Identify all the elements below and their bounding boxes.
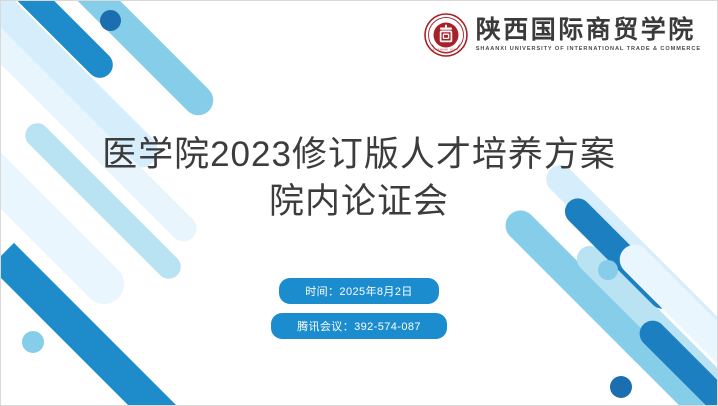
title-line-2: 院内论证会 <box>1 178 717 225</box>
university-name-cn: 陕西国际商贸学院 <box>476 18 701 43</box>
badge-datetime: 时间：2025年8月2日 <box>279 278 439 304</box>
title-line-1: 医学院2023修订版人才培养方案 <box>1 131 717 178</box>
badge-meeting-id: 腾讯会议：392-574-087 <box>271 313 447 339</box>
deco-dot-dark-bottomright <box>610 376 632 398</box>
deco-dot-light-right <box>598 260 618 280</box>
deco-bar-accent-left-1 <box>1 1 118 83</box>
slide-title: 医学院2023修订版人才培养方案 院内论证会 <box>1 131 717 225</box>
university-name-en: SHAANXI UNIVERSITY OF INTERNATIONAL TRAD… <box>476 47 701 53</box>
deco-bar-light-left-2 <box>29 1 220 121</box>
university-logo: SHAANXI UNIV. 陕西国际商贸学院 SHAANXI UNIVERSIT… <box>424 13 701 57</box>
deco-dot-dark-topleft <box>100 10 121 31</box>
university-name-block: 陕西国际商贸学院 SHAANXI UNIVERSITY OF INTERNATI… <box>476 18 701 53</box>
info-badge-group: 时间：2025年8月2日 腾讯会议：392-574-087 <box>1 278 717 339</box>
svg-text:SHAANXI UNIV.: SHAANXI UNIV. <box>432 48 459 52</box>
presentation-slide: SHAANXI UNIV. 陕西国际商贸学院 SHAANXI UNIVERSIT… <box>0 0 718 406</box>
university-seal-icon: SHAANXI UNIV. <box>424 13 468 57</box>
